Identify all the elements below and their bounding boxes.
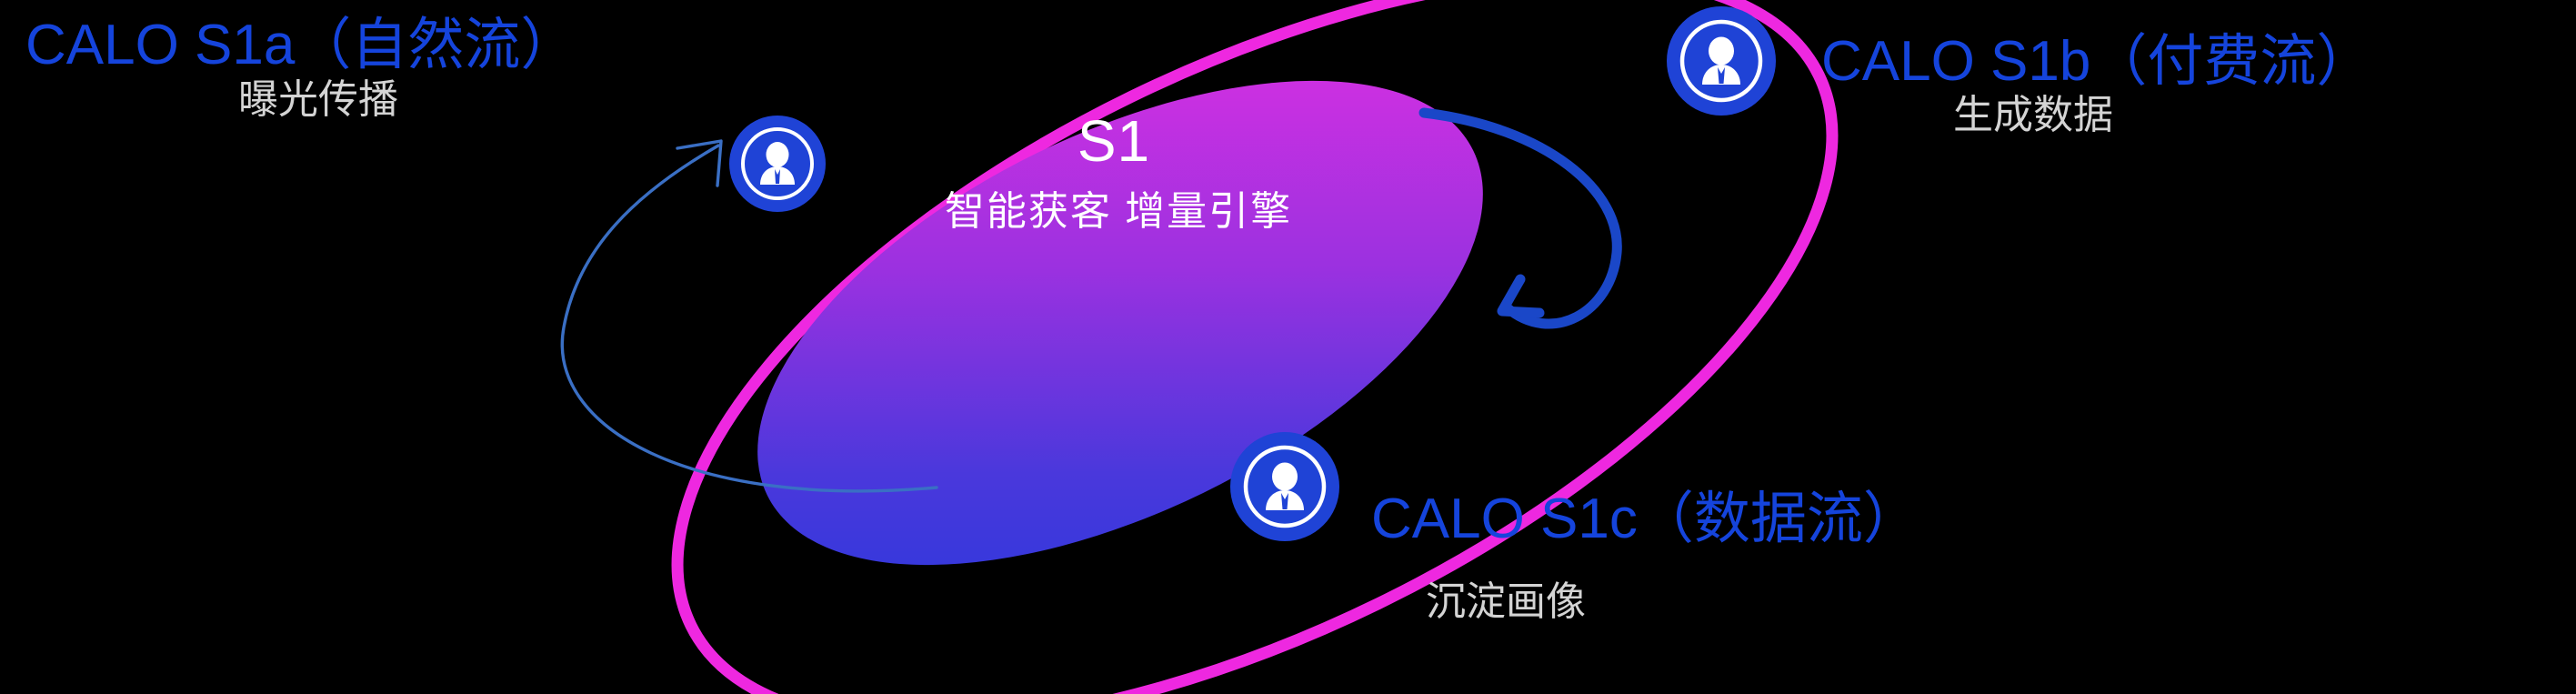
diagram-canvas: S1 智能获客 增量引擎 CALO S1a（自然流） 曝光传播 CALO S1b… [0,0,2576,694]
inner-arc-right-arrowhead [1502,279,1539,313]
node-s1a[interactable] [729,116,826,212]
node-sublabel-s1c: 沉淀画像 [1426,580,1586,624]
core-title: S1 [987,107,1241,175]
node-sublabel-s1b: 生成数据 [1953,94,2113,137]
core-subtitle: 智能获客 增量引擎 [846,178,1391,236]
node-s1c[interactable] [1230,432,1339,541]
node-label-s1c[interactable]: CALO S1c（数据流） [1371,488,1919,550]
node-label-s1b[interactable]: CALO S1b（付费流） [1821,31,2372,93]
node-label-s1a[interactable]: CALO S1a（自然流） [25,15,576,76]
node-s1b[interactable] [1667,6,1776,116]
node-sublabel-s1a: 曝光传播 [238,78,398,122]
